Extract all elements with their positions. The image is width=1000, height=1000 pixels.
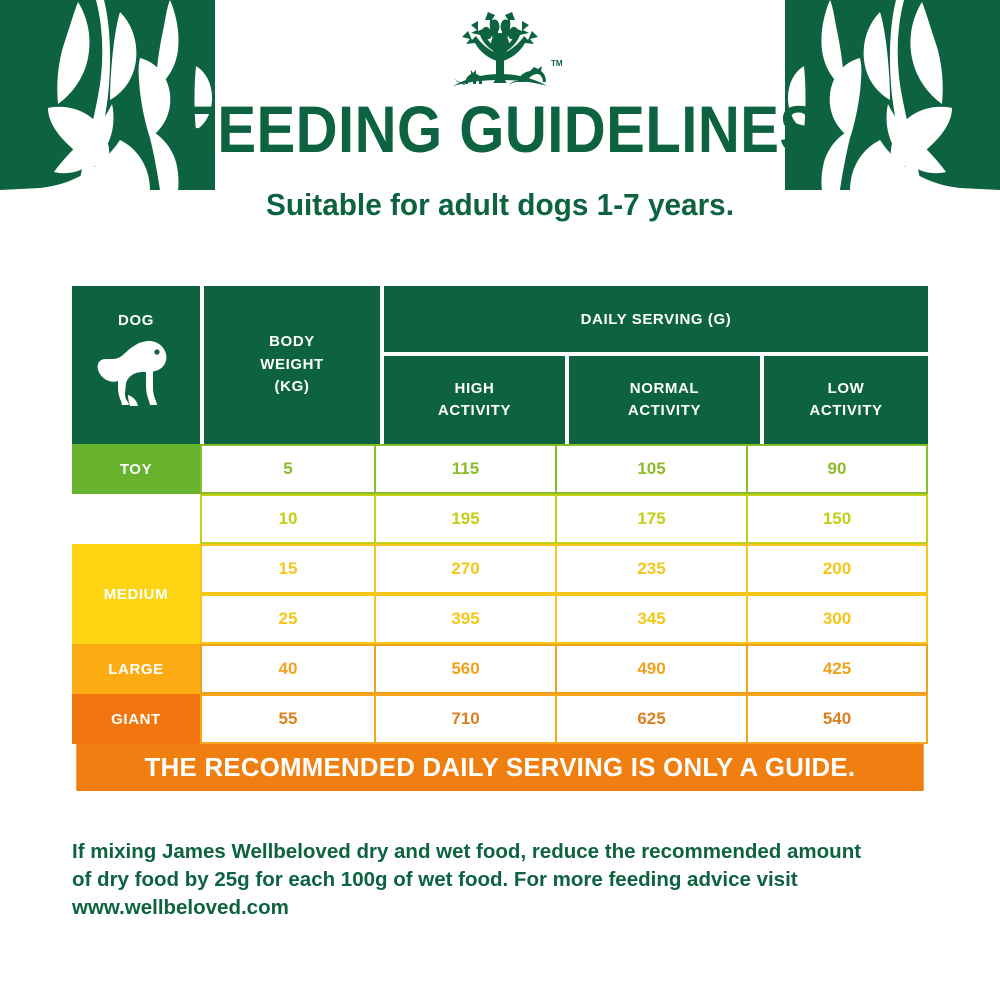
column-header-daily-serving-label: DAILY SERVING (G) — [384, 286, 928, 352]
low-activity-line-2: ACTIVITY — [809, 400, 882, 422]
category-cell-small: SMALL — [72, 494, 200, 544]
tree-paw-logo-icon: TM — [435, 12, 565, 92]
cell-body-weight: 10 — [200, 494, 376, 544]
high-activity-line-1: HIGH — [438, 378, 511, 400]
normal-activity-line-1: NORMAL — [628, 378, 701, 400]
category-cell-large: LARGE — [72, 644, 200, 694]
cell-low-activity: 200 — [748, 544, 928, 594]
table-body: TOYSMALLMEDIUMLARGEGIANT 511510590101951… — [72, 444, 928, 744]
column-header-dog: DOG — [72, 286, 200, 444]
page-subtitle: Suitable for adult dogs 1-7 years. — [20, 189, 980, 220]
column-header-daily-serving-group: DAILY SERVING (G) HIGH ACTIVITY NORMAL A… — [384, 286, 928, 444]
brand-logo: TM — [0, 12, 1000, 92]
cell-low-activity: 150 — [748, 494, 928, 544]
cell-body-weight: 40 — [200, 644, 376, 694]
dog-silhouette-icon — [97, 335, 175, 413]
table-row: 40560490425 — [200, 644, 928, 694]
page-title: FEEDING GUIDELINES — [60, 96, 940, 162]
cell-body-weight: 55 — [200, 694, 376, 744]
cell-body-weight: 15 — [200, 544, 376, 594]
cell-high-activity: 560 — [376, 644, 557, 694]
cell-high-activity: 710 — [376, 694, 557, 744]
trademark-label: TM — [551, 59, 563, 68]
table-row: 25395345300 — [200, 594, 928, 644]
category-cell-giant: GIANT — [72, 694, 200, 744]
cell-high-activity: 270 — [376, 544, 557, 594]
high-activity-line-2: ACTIVITY — [438, 400, 511, 422]
low-activity-line-1: LOW — [809, 378, 882, 400]
data-rows-column: 5115105901019517515015270235200253953453… — [200, 444, 928, 744]
category-cell-toy: TOY — [72, 444, 200, 494]
cell-high-activity: 195 — [376, 494, 557, 544]
column-header-body-weight: BODY WEIGHT (KG) — [204, 286, 380, 444]
column-header-low-activity: LOW ACTIVITY — [764, 356, 928, 444]
cell-body-weight: 5 — [200, 444, 376, 494]
table-row: 511510590 — [200, 444, 928, 494]
table-row: 10195175150 — [200, 494, 928, 544]
column-header-high-activity: HIGH ACTIVITY — [384, 356, 565, 444]
table-header: DOG BODY WEIGHT (KG) DAILY SERVING (G) — [72, 286, 928, 444]
column-header-dog-label: DOG — [118, 312, 154, 329]
cell-low-activity: 540 — [748, 694, 928, 744]
cell-normal-activity: 235 — [557, 544, 748, 594]
body-weight-line-1: BODY — [269, 331, 315, 354]
cell-normal-activity: 175 — [557, 494, 748, 544]
footnote-line-2: of dry food by 25g for each 100g of wet … — [72, 866, 932, 894]
table-row: 15270235200 — [200, 544, 928, 594]
body-weight-line-3: (KG) — [275, 376, 310, 399]
cell-normal-activity: 490 — [557, 644, 748, 694]
category-column: TOYSMALLMEDIUMLARGEGIANT — [72, 444, 200, 744]
cell-high-activity: 115 — [376, 444, 557, 494]
table-row: 55710625540 — [200, 694, 928, 744]
body-weight-line-2: WEIGHT — [260, 354, 324, 377]
column-header-normal-activity: NORMAL ACTIVITY — [569, 356, 760, 444]
cell-low-activity: 90 — [748, 444, 928, 494]
footnote-website: www.wellbeloved.com — [72, 894, 932, 922]
cell-low-activity: 300 — [748, 594, 928, 644]
cell-normal-activity: 625 — [557, 694, 748, 744]
cell-normal-activity: 105 — [557, 444, 748, 494]
cell-high-activity: 395 — [376, 594, 557, 644]
activity-subheaders: HIGH ACTIVITY NORMAL ACTIVITY LOW ACTIVI… — [384, 356, 928, 444]
cell-normal-activity: 345 — [557, 594, 748, 644]
footnote-line-1: If mixing James Wellbeloved dry and wet … — [72, 838, 932, 866]
feeding-guidelines-table: DOG BODY WEIGHT (KG) DAILY SERVING (G) — [72, 286, 928, 791]
normal-activity-line-2: ACTIVITY — [628, 400, 701, 422]
footnote: If mixing James Wellbeloved dry and wet … — [72, 838, 932, 922]
cell-low-activity: 425 — [748, 644, 928, 694]
category-cell-medium: MEDIUM — [72, 544, 200, 644]
cell-body-weight: 25 — [200, 594, 376, 644]
guide-banner: THE RECOMMENDED DAILY SERVING IS ONLY A … — [76, 744, 923, 791]
